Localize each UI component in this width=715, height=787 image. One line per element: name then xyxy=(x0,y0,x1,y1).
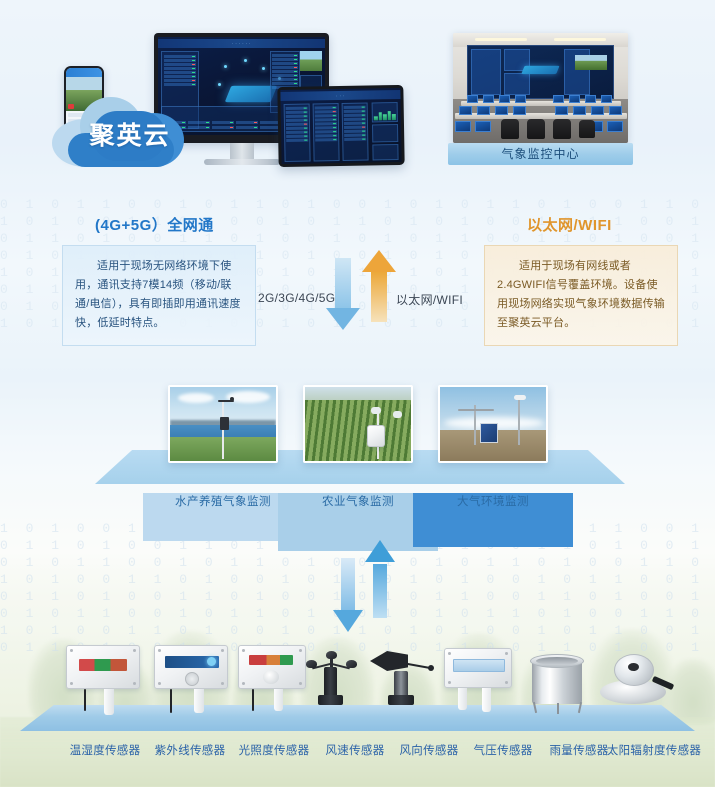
sensor-label-solar-radiation: 太阳辐射度传感器 xyxy=(595,742,713,758)
wind-vane-blade xyxy=(370,651,408,671)
sensor-probe xyxy=(104,689,114,715)
sensor-housing xyxy=(220,417,229,430)
scenario-caption-atmosphere: 大气环境监测 xyxy=(413,493,573,547)
tripod-mast xyxy=(474,405,476,445)
phone-app-header xyxy=(66,68,102,77)
arrow-down-icon xyxy=(326,258,360,330)
sensor-probe xyxy=(274,689,283,711)
anemometer-cup xyxy=(346,660,357,668)
sensor-probe xyxy=(458,688,467,710)
pyranometer-sensor-element xyxy=(628,663,639,671)
ethernet-arrow-label: 以太网/WIFI xyxy=(396,291,463,308)
monitor-base xyxy=(204,159,280,165)
sensor-enclosure xyxy=(66,645,140,689)
sky xyxy=(305,387,411,400)
crop-rows xyxy=(305,400,411,461)
control-room-caption: 气象监控中心 xyxy=(448,143,633,165)
radiation-shield-icon xyxy=(371,407,381,414)
scenario-photo-aquaculture xyxy=(168,385,278,463)
sensor-barometric-pressure xyxy=(440,648,518,718)
sensor-probe xyxy=(482,688,491,712)
sensor-cable xyxy=(170,689,172,713)
cross-arm xyxy=(458,409,494,411)
anemometer-cup xyxy=(306,660,317,668)
anemometer-head-icon xyxy=(230,397,234,401)
scenario-photo-atmosphere xyxy=(438,385,548,463)
tripod-mast xyxy=(518,397,520,445)
anemometer-base xyxy=(318,695,343,705)
uv-indicator-icon xyxy=(207,657,216,666)
cellular-title: (4G+5G）全网通 xyxy=(95,214,214,235)
sensor-enclosure xyxy=(444,648,512,688)
sensor-rain-gauge xyxy=(524,650,594,716)
sensor-display xyxy=(249,655,293,665)
rain-gauge-leg xyxy=(557,703,559,714)
scenario-photo-agriculture xyxy=(303,385,413,463)
data-flow-arrows xyxy=(333,540,403,635)
wind-vane-base xyxy=(388,695,414,705)
control-room-image xyxy=(453,33,628,143)
tablet-dashboard-screen: · · · xyxy=(280,88,401,164)
arrow-up-icon xyxy=(362,250,396,322)
sensor-anemometer xyxy=(302,645,362,717)
cloud-logo: 聚英云 xyxy=(52,95,202,170)
wind-vane-body xyxy=(394,671,408,697)
sensor-enclosure xyxy=(154,645,228,689)
light-dome-icon xyxy=(263,670,279,684)
sensor-display xyxy=(453,659,505,672)
cellular-arrow-label: 2G/3G/4G/5G xyxy=(258,291,335,305)
arrow-up-icon xyxy=(365,540,395,618)
control-room-floor xyxy=(453,99,628,143)
wind-vane-counterweight xyxy=(428,665,434,671)
ethernet-wifi-description-text: 适用于现场有网线或者2.4GWIFI信号覆盖环境。设备使用现场网络实现气象环境数… xyxy=(497,257,665,333)
tablet-body: · · · xyxy=(277,85,404,167)
arrow-down-icon xyxy=(333,558,363,634)
weather-mast xyxy=(222,401,224,459)
sensor-head-icon xyxy=(514,395,526,400)
rain-gauge-opening xyxy=(536,657,578,665)
sensor-vent-icon xyxy=(185,672,199,686)
cellular-description-text: 适用于现场无网络环境下使用，通讯支持7模14频（移动/联通/电信），具有即插即用… xyxy=(75,257,243,333)
sensor-wind-vane xyxy=(368,645,440,717)
tablet-dashboard-header: · · · xyxy=(280,90,400,101)
sensor-display xyxy=(79,659,127,671)
dashboard-header-bar: · · · · · · xyxy=(158,39,325,48)
sensor-solar-radiation xyxy=(596,650,680,712)
anemometer-body xyxy=(324,667,337,697)
control-room-photo xyxy=(453,33,628,143)
sensor-cable xyxy=(252,689,254,711)
field-station-box xyxy=(367,425,385,447)
sensor-temperature-humidity xyxy=(62,645,148,715)
sensor-enclosure xyxy=(238,645,306,689)
ethernet-wifi-description-box: 适用于现场有网线或者2.4GWIFI信号覆盖环境。设备使用现场网络实现气象环境数… xyxy=(484,245,678,346)
sensor-uv xyxy=(150,645,236,715)
anemometer-cup xyxy=(326,651,337,659)
video-wall xyxy=(467,45,614,99)
ethernet-wifi-title: 以太网/WIFI xyxy=(527,214,612,235)
solar-panel-icon xyxy=(480,423,498,443)
cloud-platform-section: · · · · · · xyxy=(0,0,715,190)
cloud-logo-text: 聚英云 xyxy=(74,121,186,151)
sensor-probe xyxy=(194,689,204,713)
sensor-cable xyxy=(84,689,86,711)
tablet-device: · · · xyxy=(277,85,404,167)
cellular-description-box: 适用于现场无网络环境下使用，通讯支持7模14频（移动/联通/电信），具有即插即用… xyxy=(62,245,256,346)
radiation-shield-icon xyxy=(393,411,402,418)
